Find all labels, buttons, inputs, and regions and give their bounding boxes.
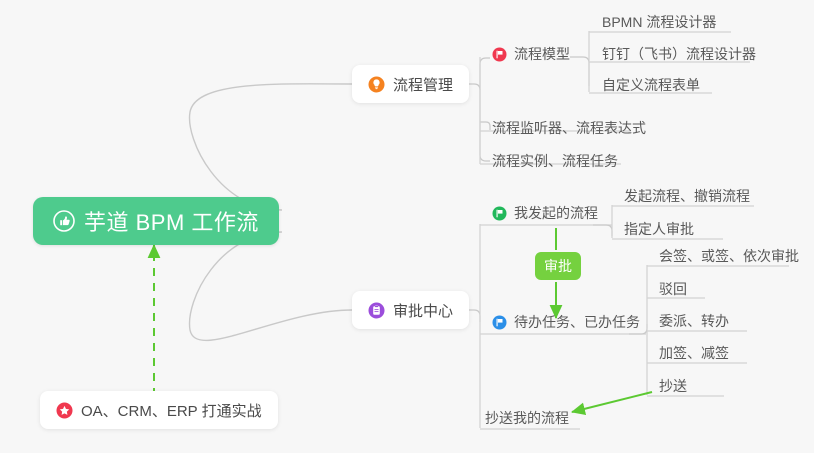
node-instance-task[interactable]: 流程实例、流程任务 xyxy=(490,148,621,174)
node-label-bpmn-designer: BPMN 流程设计器 xyxy=(602,12,716,32)
node-cc-to-me-process[interactable]: 抄送我的流程 xyxy=(483,405,572,431)
node-assignee-approval[interactable]: 指定人审批 xyxy=(622,216,697,242)
node-custom-process-form[interactable]: 自定义流程表单 xyxy=(600,72,703,98)
footer-node-label: OA、CRM、ERP 打通实战 xyxy=(81,400,262,421)
connector-root-to-process-management xyxy=(190,84,352,210)
node-label-dingtalk-feishu-designer: 钉钉（飞书）流程设计器 xyxy=(602,44,756,64)
root-label: 芋道 BPM 工作流 xyxy=(84,205,259,237)
node-label-instance-task: 流程实例、流程任务 xyxy=(492,151,618,171)
node-todo-done-tasks[interactable]: 待办任务、已办任务 xyxy=(490,309,643,335)
node-bpmn-designer[interactable]: BPMN 流程设计器 xyxy=(600,9,719,35)
arrow-cc-to-ccmine xyxy=(572,392,652,412)
root-node[interactable]: 芋道 BPM 工作流 xyxy=(33,197,279,245)
mindmap-canvas: 芋道 BPM 工作流 流程管理 审批中心 xyxy=(0,0,814,453)
clipboard-icon xyxy=(368,302,385,319)
flag-icon xyxy=(492,206,507,221)
node-label-add-remove-sign: 加签、减签 xyxy=(659,343,729,363)
node-countersign[interactable]: 会签、或签、依次审批 xyxy=(657,243,802,269)
connector-pm-to-process-model xyxy=(480,58,490,90)
node-label-countersign: 会签、或签、依次审批 xyxy=(659,246,799,266)
approval-tag-label: 审批 xyxy=(544,256,572,276)
branch-label-approval-center: 审批中心 xyxy=(393,300,453,321)
branch-node-approval-center[interactable]: 审批中心 xyxy=(352,291,469,329)
node-label-carbon-copy: 抄送 xyxy=(659,376,687,396)
node-dingtalk-feishu-designer[interactable]: 钉钉（飞书）流程设计器 xyxy=(600,41,759,67)
thumbs-up-icon xyxy=(53,210,75,232)
node-reject[interactable]: 驳回 xyxy=(657,276,690,302)
flag-icon xyxy=(492,315,507,330)
approval-tag-node[interactable]: 审批 xyxy=(535,252,581,280)
footer-node-oa-crm-erp[interactable]: OA、CRM、ERP 打通实战 xyxy=(40,391,278,429)
node-label-start-cancel-process: 发起流程、撤销流程 xyxy=(624,186,750,206)
star-icon xyxy=(56,402,73,419)
lightbulb-icon xyxy=(368,76,385,93)
node-carbon-copy[interactable]: 抄送 xyxy=(657,373,690,399)
connector-mine-trunk xyxy=(593,225,612,236)
connector-pm-to-listener xyxy=(480,122,490,130)
node-listener-expression[interactable]: 流程监听器、流程表达式 xyxy=(490,115,649,141)
node-start-cancel-process[interactable]: 发起流程、撤销流程 xyxy=(622,183,753,209)
node-label-assignee-approval: 指定人审批 xyxy=(624,219,694,239)
node-delegate-transfer[interactable]: 委派、转办 xyxy=(657,308,732,334)
node-label-custom-process-form: 自定义流程表单 xyxy=(602,75,700,95)
node-label-cc-to-me-process: 抄送我的流程 xyxy=(485,408,569,428)
connector-root-to-approval-center xyxy=(190,232,352,340)
node-add-remove-sign[interactable]: 加签、减签 xyxy=(657,340,732,366)
node-label-delegate-transfer: 委派、转办 xyxy=(659,311,729,331)
node-my-initiated-process[interactable]: 我发起的流程 xyxy=(490,200,601,226)
node-label-listener-expression: 流程监听器、流程表达式 xyxy=(492,118,646,138)
node-label-reject: 驳回 xyxy=(659,279,687,299)
node-label-process-model: 流程模型 xyxy=(514,44,570,64)
node-label-my-initiated-process: 我发起的流程 xyxy=(514,203,598,223)
branch-node-process-management[interactable]: 流程管理 xyxy=(352,65,469,103)
branch-label-process-management: 流程管理 xyxy=(393,74,453,95)
node-process-model[interactable]: 流程模型 xyxy=(490,41,573,67)
node-label-todo-done-tasks: 待办任务、已办任务 xyxy=(514,312,640,332)
flag-icon xyxy=(492,47,507,62)
